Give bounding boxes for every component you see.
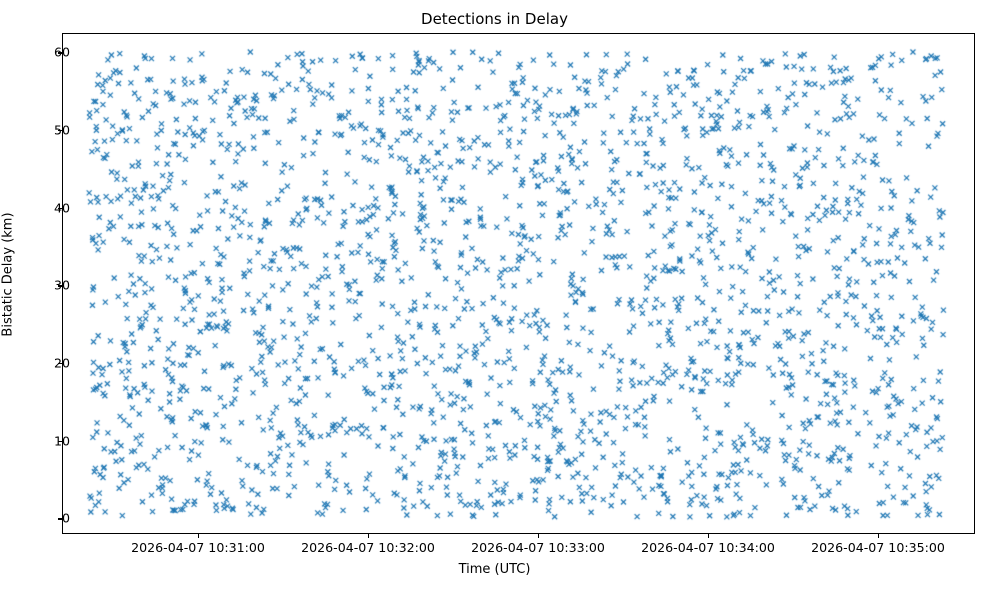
y-tick-label: 50: [54, 123, 70, 138]
x-tick-label: 2026-04-07 10:35:00: [811, 540, 945, 555]
y-tick-label: 60: [54, 45, 70, 60]
x-tick-mark: [198, 534, 199, 538]
chart-title: Detections in Delay: [0, 10, 989, 28]
y-axis-label: Bistatic Delay (km): [1, 175, 16, 375]
y-tick-label: 40: [54, 200, 70, 215]
x-tick-mark: [708, 534, 709, 538]
y-tick-label: 10: [54, 433, 70, 448]
y-tick-label: 30: [54, 278, 70, 293]
y-tick-label: 20: [54, 356, 70, 371]
x-tick-label: 2026-04-07 10:32:00: [301, 540, 435, 555]
y-tick-label: 0: [62, 511, 70, 526]
x-axis-label: Time (UTC): [0, 562, 989, 577]
x-tick-label: 2026-04-07 10:31:00: [131, 540, 265, 555]
scatter-plot-canvas: [63, 34, 975, 534]
x-tick-mark: [878, 534, 879, 538]
x-tick-label: 2026-04-07 10:34:00: [641, 540, 775, 555]
plot-axes-area: [62, 33, 975, 534]
x-tick-mark: [368, 534, 369, 538]
x-tick-label: 2026-04-07 10:33:00: [471, 540, 605, 555]
matplotlib-figure: Detections in Delay 2026-04-07 10:31:002…: [0, 0, 989, 590]
x-tick-mark: [538, 534, 539, 538]
